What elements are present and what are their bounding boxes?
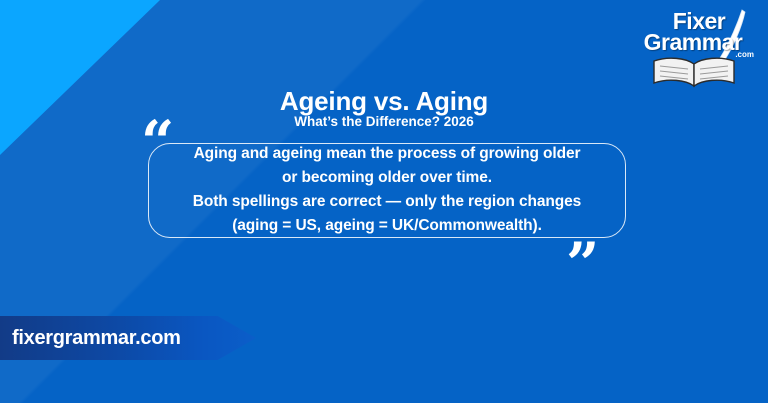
- quote-line-4: (aging = US, ageing = UK/Commonwealth).: [152, 214, 622, 238]
- url-banner-label: fixergrammar.com: [0, 327, 181, 350]
- open-book-icon: [648, 56, 740, 90]
- closing-quote-icon: ”: [566, 235, 599, 293]
- corner-accent-triangle: [0, 0, 160, 155]
- logo-wordmark: Fixer Grammar: [632, 10, 760, 54]
- quote-line-1: Aging and ageing mean the process of gro…: [152, 142, 622, 166]
- quote-line-2: or becoming older over time.: [152, 166, 622, 190]
- quote-line-3: Both spellings are correct — only the re…: [152, 190, 622, 214]
- url-banner[interactable]: fixergrammar.com: [0, 316, 256, 360]
- brand-logo[interactable]: Fixer Grammar .com: [632, 6, 760, 90]
- quote-text: Aging and ageing mean the process of gro…: [152, 142, 622, 238]
- page-subtitle: What’s the Difference? 2026: [0, 114, 768, 129]
- infographic-canvas: Fixer Grammar .com Ageing vs. Aging What…: [0, 0, 768, 403]
- page-title: Ageing vs. Aging: [0, 86, 768, 117]
